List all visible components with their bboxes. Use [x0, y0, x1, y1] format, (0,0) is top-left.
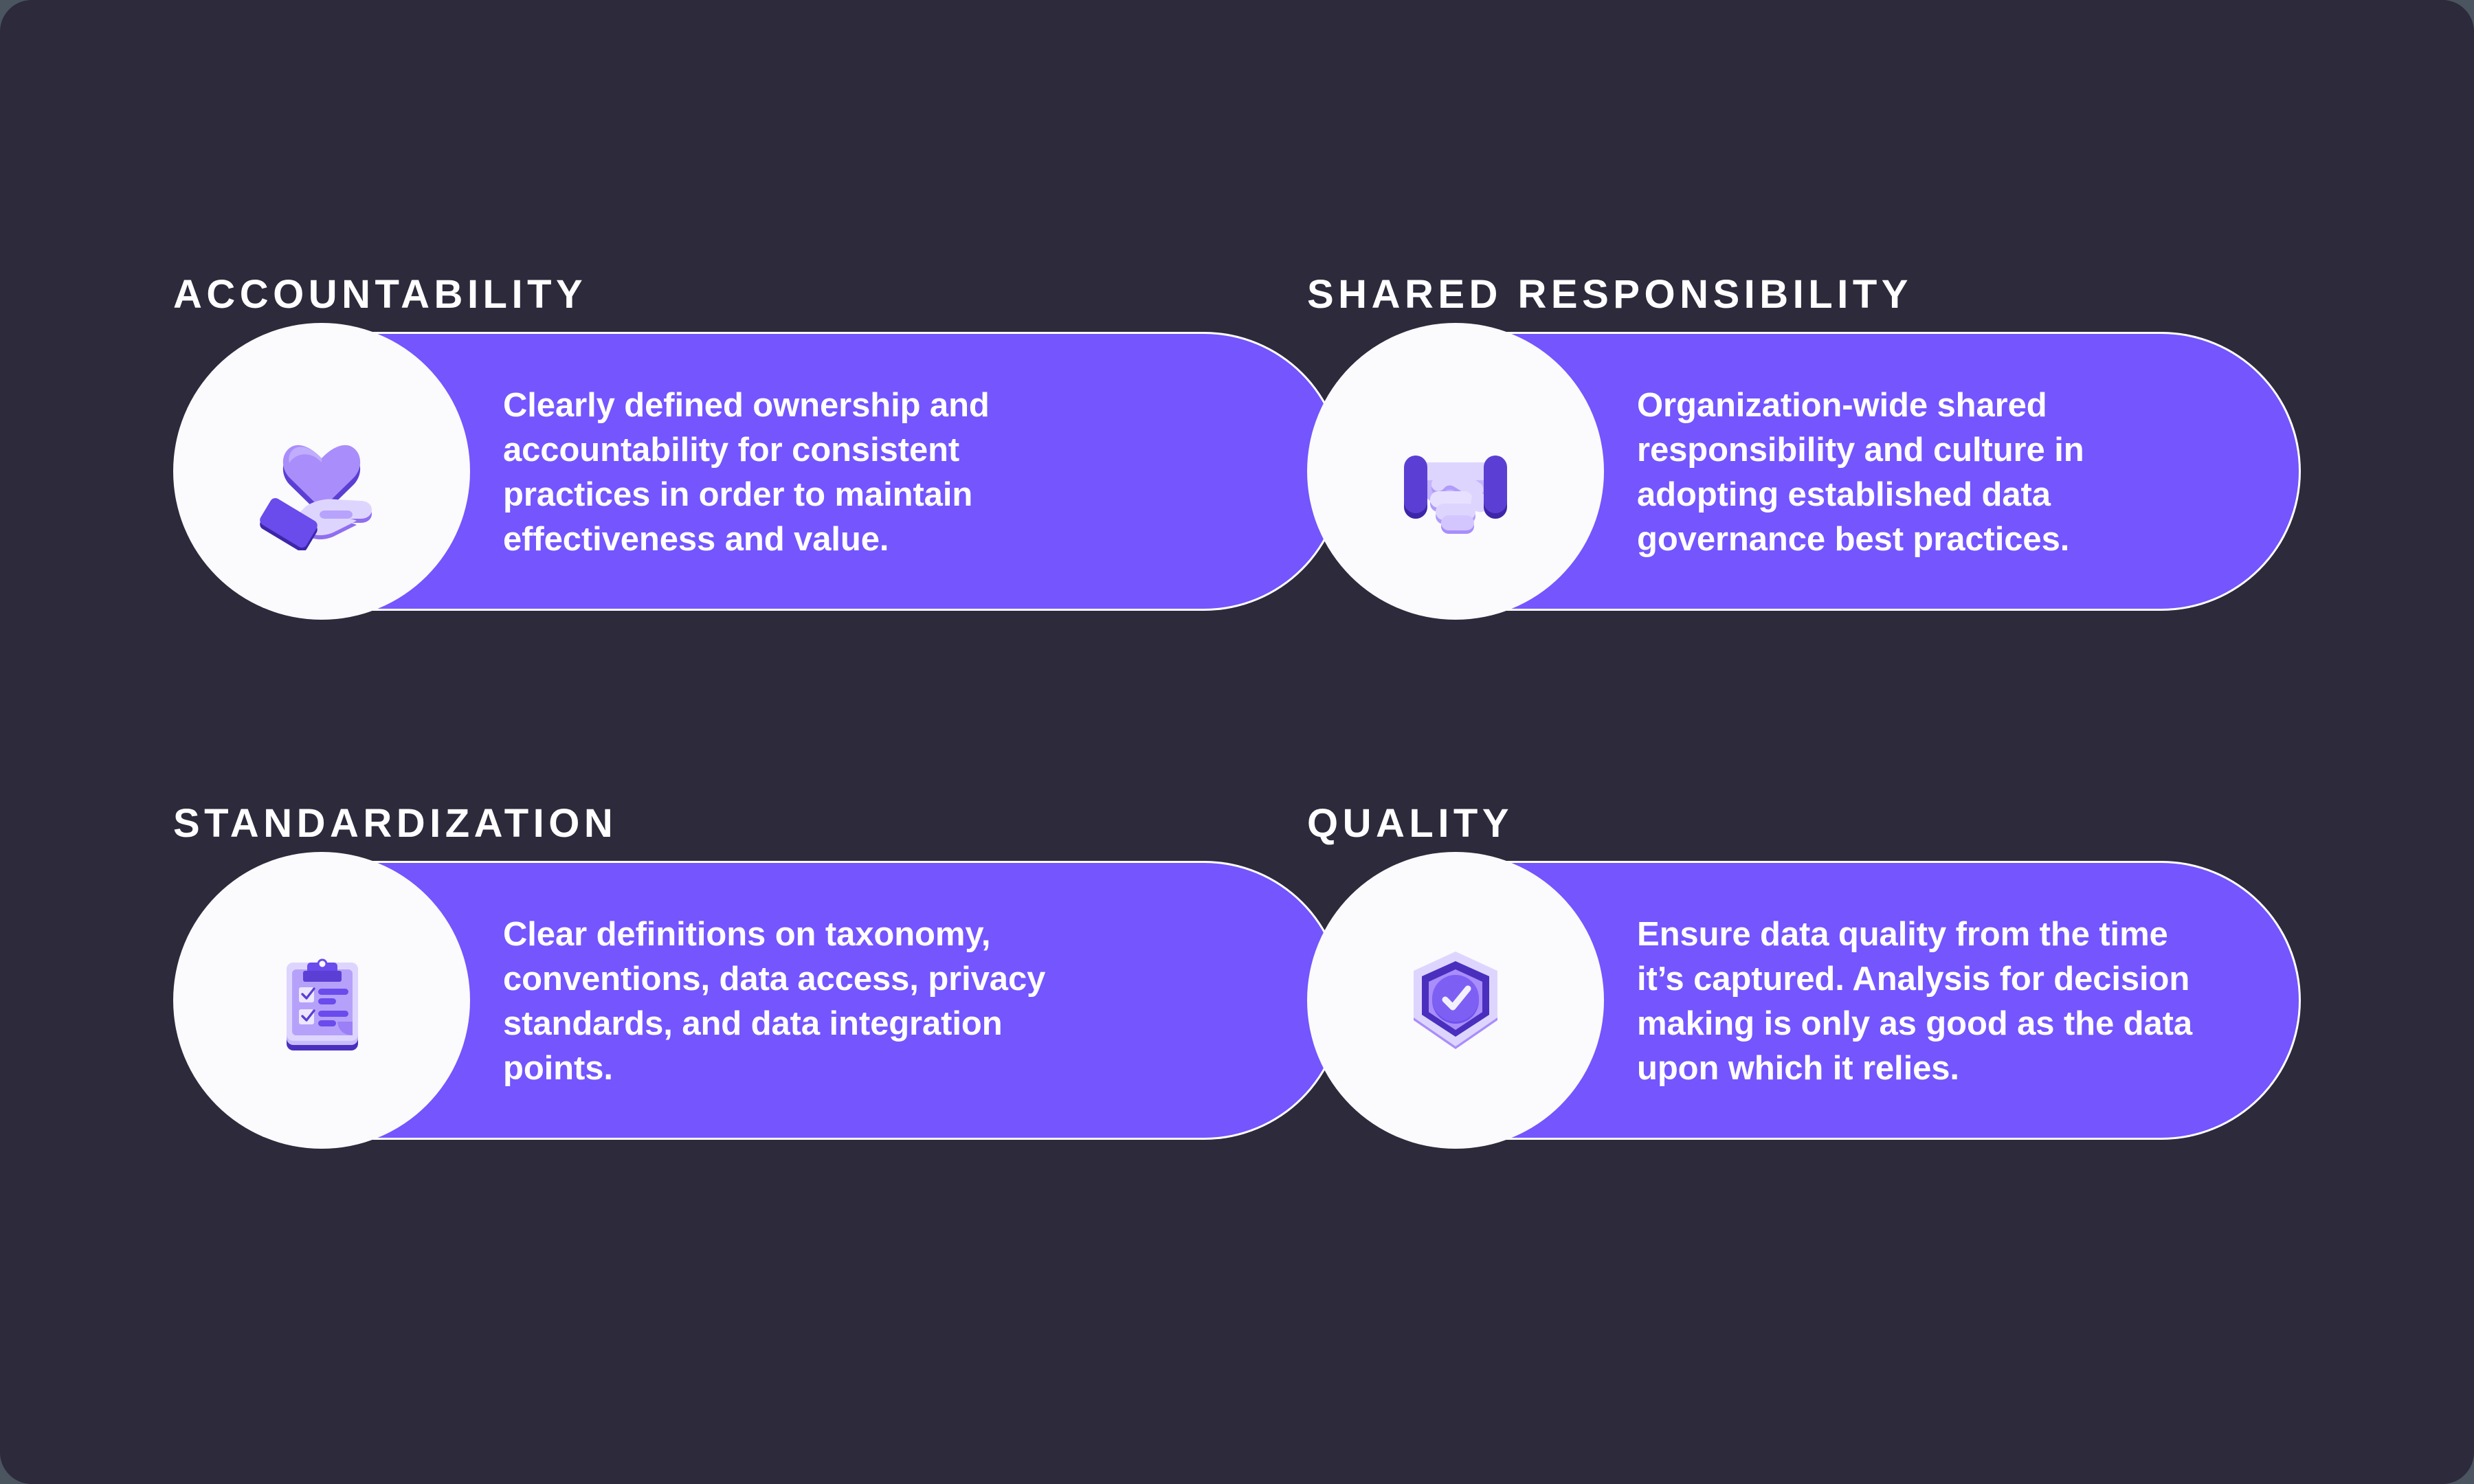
card-body-accountability: Clearly defined ownership and accountabi… [503, 383, 1067, 563]
card-body-quality: Ensure data quality from the time it’s c… [1637, 912, 2214, 1092]
shield-check-icon [1377, 921, 1535, 1079]
card-heading-quality: QUALITY [1307, 804, 1513, 844]
card-heading-shared-responsibility: SHARED RESPONSIBILITY [1307, 275, 1913, 315]
card-heading-accountability: ACCOUNTABILITY [173, 275, 587, 315]
clipboard-checklist-icon [243, 921, 401, 1079]
icon-circle-accountability [173, 323, 470, 620]
principles-grid: ACCOUNTABILITY [0, 0, 2474, 1484]
card-heading-standardization: STANDARDIZATION [173, 804, 617, 844]
handshake-icon [1377, 392, 1535, 550]
infographic-root: ACCOUNTABILITY [0, 0, 2474, 1484]
card-body-standardization: Clear definitions on taxonomy, conventio… [503, 912, 1101, 1092]
icon-circle-quality [1307, 852, 1604, 1149]
icon-circle-standardization [173, 852, 470, 1149]
icon-circle-shared-responsibility [1307, 323, 1604, 620]
heart-in-hand-icon [243, 392, 401, 550]
card-body-shared-responsibility: Organization-wide shared responsibility … [1637, 383, 2180, 563]
